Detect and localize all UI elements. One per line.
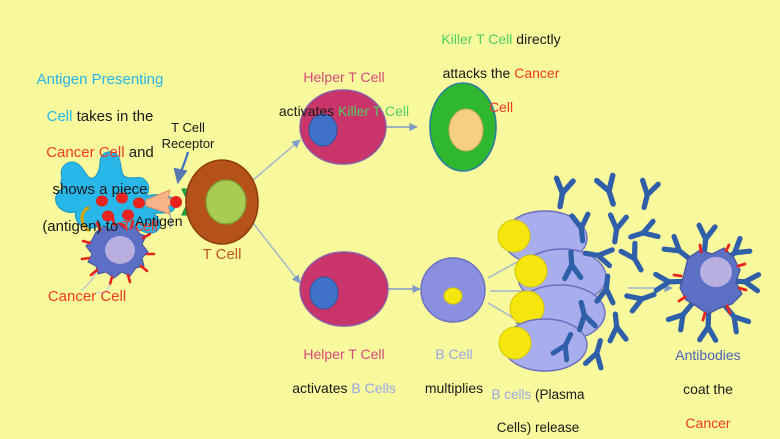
arrow-tcell-to-helper-lower bbox=[253, 223, 300, 283]
coated-cancer-cell bbox=[656, 225, 759, 340]
b-cell bbox=[421, 258, 485, 322]
plasma-release-caption: B cells (Plasma Cells) release Antibodie… bbox=[470, 371, 606, 439]
killer-attacks-caption: Killer T Cell directly attacks the Cance… bbox=[406, 14, 596, 134]
t-cell-receptor-label: T Cell Receptor bbox=[150, 120, 226, 152]
antigen-label: Antigen bbox=[135, 213, 182, 230]
plasma-cell bbox=[499, 319, 587, 371]
caption-line: Cancer bbox=[653, 415, 763, 432]
helper-activates-killer-caption: Helper T Cell activates Killer T Cell bbox=[276, 52, 412, 137]
helper-activates-b-caption: Helper T Cell activates B Cells bbox=[282, 329, 406, 414]
caption-line: Helper T Cell bbox=[276, 69, 412, 86]
t-cell-label: T Cell bbox=[190, 246, 254, 264]
caption-line: B Cell bbox=[413, 346, 495, 363]
caption-line: attacks the Cancer bbox=[406, 65, 596, 82]
caption-line: Killer T Cell directly bbox=[406, 31, 596, 48]
caption-line: Cells) release bbox=[470, 420, 606, 436]
apc-caption-line: Antigen Presenting bbox=[10, 71, 190, 89]
antibodies-coat-caption: Antibodies coat the Cancer Cell bbox=[653, 330, 763, 439]
caption-line: B cells (Plasma bbox=[470, 387, 606, 403]
caption-line: Cell bbox=[406, 99, 596, 116]
apc-caption-line: shows a piece bbox=[10, 181, 190, 199]
cancer-cell-label: Cancer Cell bbox=[32, 288, 142, 306]
caption-line: coat the bbox=[653, 381, 763, 398]
arrow-tcell-to-helper-upper bbox=[253, 140, 300, 180]
helper-t-cell-lower bbox=[300, 252, 388, 326]
caption-line: Helper T Cell bbox=[282, 346, 406, 363]
t-cell bbox=[186, 160, 258, 244]
immune-response-diagram: Antigen Presenting Cell takes in the Can… bbox=[0, 0, 780, 439]
caption-line: activates B Cells bbox=[282, 380, 406, 397]
caption-line: Antibodies bbox=[653, 347, 763, 364]
caption-line: activates Killer T Cell bbox=[276, 103, 412, 120]
